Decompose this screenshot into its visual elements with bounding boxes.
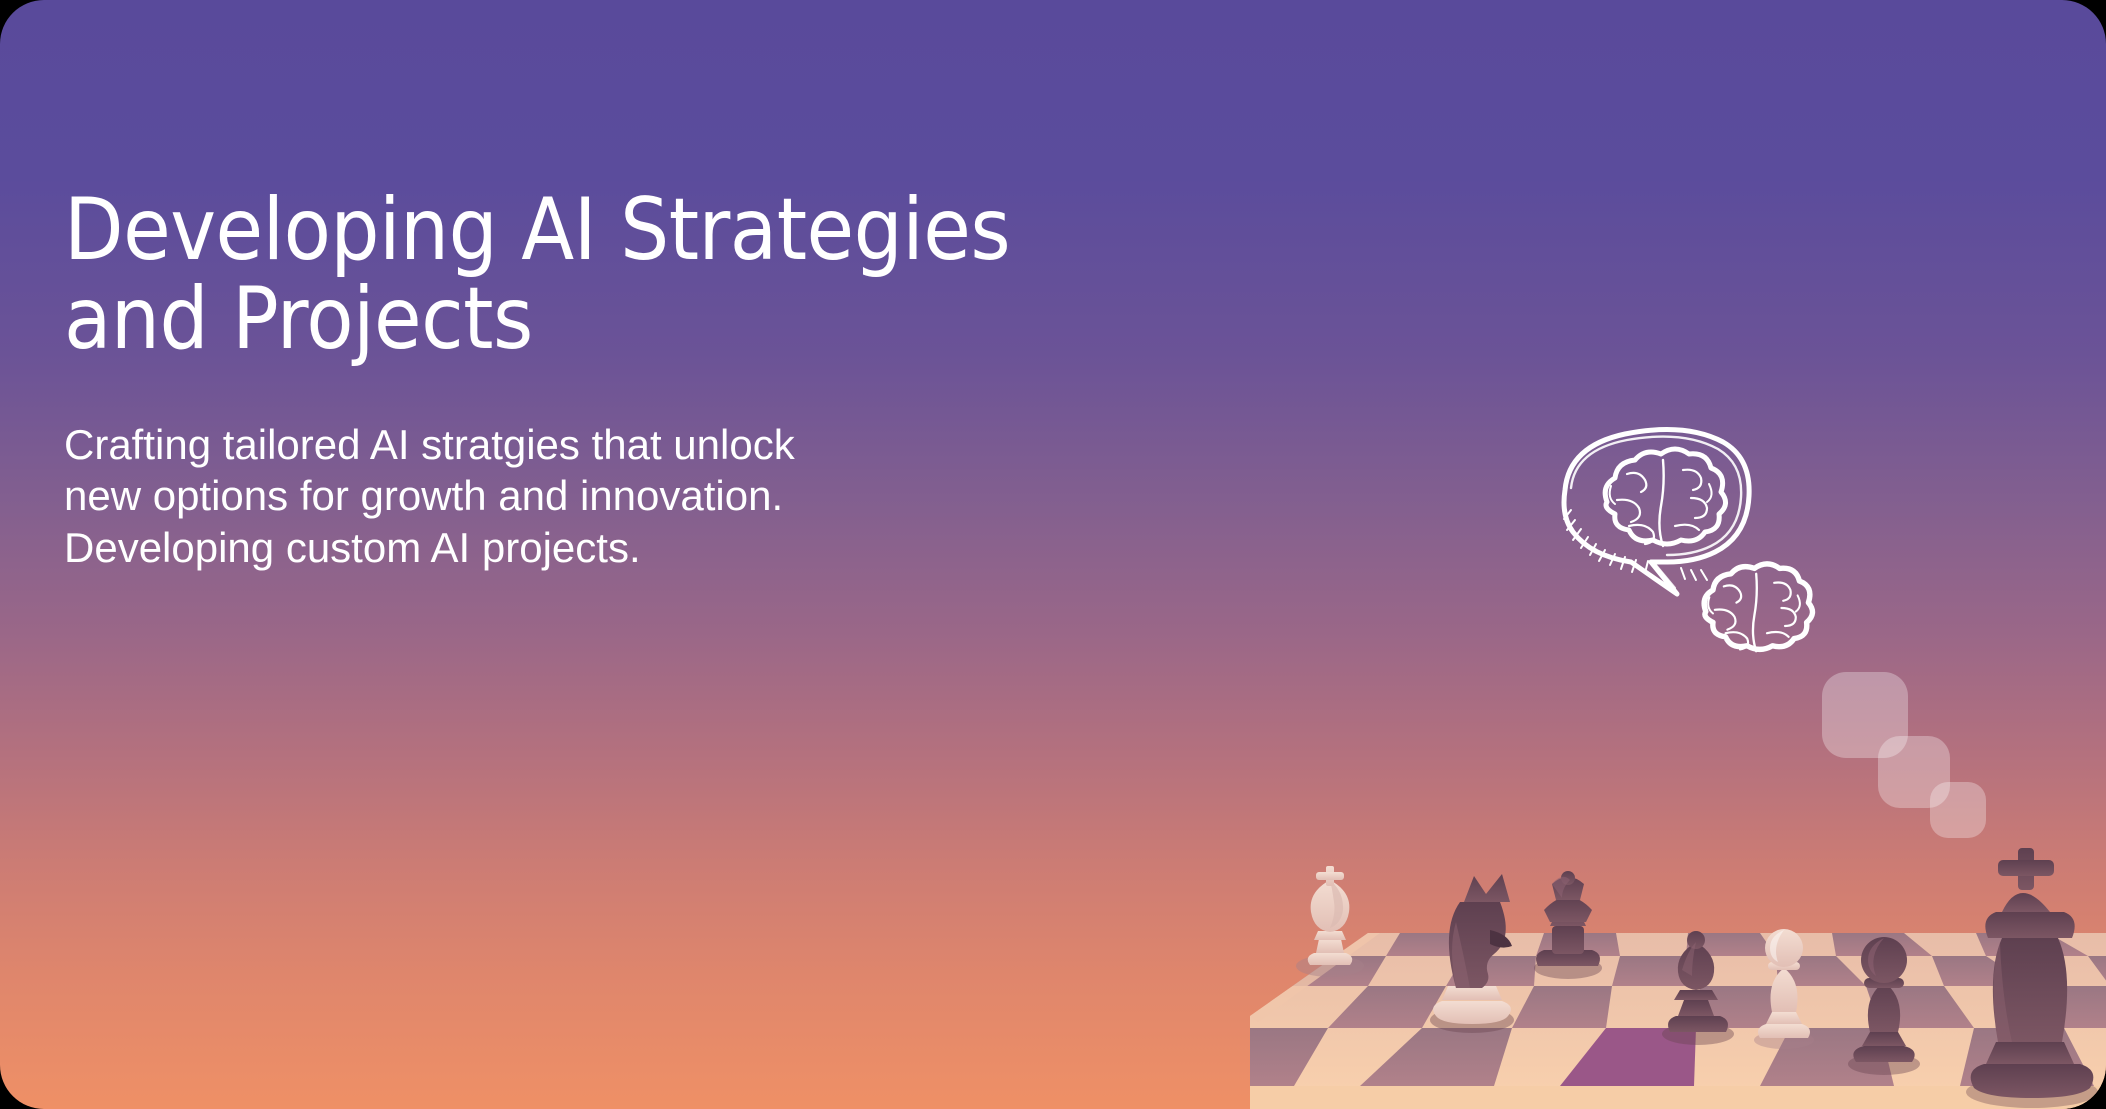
brain-icon-in-bubble xyxy=(1605,449,1725,546)
text-block: Developing AI Strategies and Projects Cr… xyxy=(64,186,1144,573)
brain-illustration-group xyxy=(1555,418,1885,678)
rounded-square-small xyxy=(1930,782,1986,838)
brain-icon-solo xyxy=(1704,564,1812,651)
chess-piece-white-bishop xyxy=(1296,866,1364,977)
page-title: Developing AI Strategies and Projects xyxy=(64,186,1144,363)
slide-subtitle: Crafting tailored AI stratgies that unlo… xyxy=(64,419,1144,573)
chess-piece-dark-queen xyxy=(1534,871,1602,979)
slide-canvas: Developing AI Strategies and Projects Cr… xyxy=(0,0,2106,1109)
